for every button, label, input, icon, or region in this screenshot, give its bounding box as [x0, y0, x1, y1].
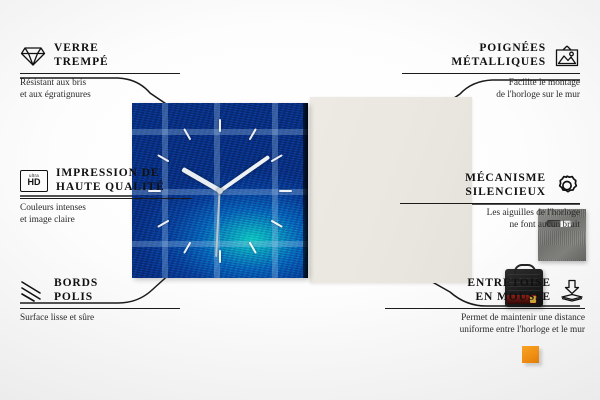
callout-sub-line2: uniforme entre l'horloge et le mur: [385, 324, 585, 336]
callout-rule: [400, 203, 580, 204]
callout-sub-line1: Couleurs intenses: [20, 202, 192, 214]
callout-silent-mechanism: MÉCANISME SILENCIEUX Les aiguilles de l'…: [400, 172, 580, 231]
callout-metal-handles: POIGNÉES MÉTALLIQUES Facilite le montage…: [402, 42, 580, 101]
callout-title-line1: POIGNÉES: [451, 42, 546, 56]
callout-sub-line1: Les aiguilles de l'horloge: [400, 207, 580, 219]
callout-title-line2: HAUTE QUALITÉ: [56, 181, 165, 195]
picture-frame-icon: [554, 45, 580, 67]
callout-title-line2: SILENCIEUX: [465, 186, 546, 200]
callout-sub-line2: et image claire: [20, 214, 192, 226]
callout-sub-line2: et aux égratignures: [20, 89, 180, 101]
gear-icon: [554, 174, 580, 198]
callout-rule: [385, 308, 585, 309]
callout-title-line2: TREMPÉ: [54, 56, 109, 70]
callout-sub-line1: Résistant aux bris: [20, 77, 180, 89]
diamond-icon: [20, 45, 46, 67]
callout-rule: [20, 73, 180, 74]
callout-sub-line1: Facilite le montage: [402, 77, 580, 89]
arrow-down-layers-icon: [559, 279, 585, 303]
callout-polished-edges: BORDS POLIS Surface lisse et sûre: [20, 277, 180, 324]
callout-sub-line1: Permet de maintenir une distance: [385, 312, 585, 324]
callout-title-line1: ENTRETOISE: [467, 277, 551, 291]
callout-title-line1: MÉCANISME: [465, 172, 546, 186]
callout-sub-line1: Surface lisse et sûre: [20, 312, 180, 324]
callout-title-line2: POLIS: [54, 291, 98, 305]
clock-center-hub: [217, 188, 223, 194]
callout-title-line1: BORDS: [54, 277, 98, 291]
callout-title-line2: EN MOUSSE: [467, 291, 551, 305]
callout-rule: [20, 308, 180, 309]
foam-spacer: [522, 346, 539, 363]
callout-sub-line2: de l'horloge sur le mur: [402, 89, 580, 101]
callout-rule: [402, 73, 580, 74]
callout-title-line1: VERRE: [54, 42, 109, 56]
diagonal-lines-icon: [20, 280, 46, 302]
ultra-hd-icon: ultra HD: [20, 170, 48, 192]
ultra-hd-big-text: HD: [28, 178, 41, 187]
callout-print-quality: ultra HD IMPRESSION DE HAUTE QUALITÉ Cou…: [20, 167, 192, 226]
callout-rule: [20, 198, 192, 199]
clock-glass-edge: [303, 103, 308, 278]
callout-sub-line2: ne font aucun bruit: [400, 219, 580, 231]
callout-title-line2: MÉTALLIQUES: [451, 56, 546, 70]
callout-title-line1: IMPRESSION DE: [56, 167, 165, 181]
infographic-canvas: VERRE TREMPÉ Résistant aux bris et aux é…: [0, 0, 600, 400]
callout-tempered-glass: VERRE TREMPÉ Résistant aux bris et aux é…: [20, 42, 180, 101]
callout-foam-spacer: ENTRETOISE EN MOUSSE Permet de maintenir…: [385, 277, 585, 336]
